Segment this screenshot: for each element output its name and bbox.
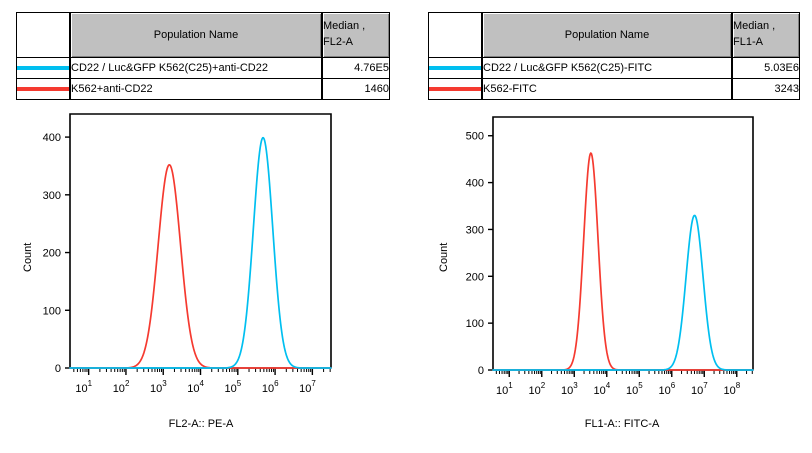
svg-text:6: 6 — [671, 381, 676, 390]
svg-text:10: 10 — [187, 383, 199, 395]
svg-text:300: 300 — [43, 190, 61, 202]
median-value-cell: 5.03E6 — [732, 58, 800, 79]
svg-text:10: 10 — [626, 385, 638, 397]
legend-header-median-line2-left: FL2-A — [323, 35, 389, 51]
table-row[interactable]: CD22 / Luc&GFP K562(C25)+anti-CD22 4.76E… — [17, 58, 390, 79]
legend-header-blank-right — [429, 13, 483, 58]
x-axis-title-right: FL1-A:: FITC-A — [491, 418, 753, 430]
y-axis-title-left: Count — [22, 243, 34, 272]
svg-text:3: 3 — [573, 381, 578, 390]
legend-table-left: Population Name Median , FL2-A CD22 / Lu… — [16, 12, 390, 100]
x-axis-title-left: FL2-A:: PE-A — [70, 418, 332, 430]
svg-text:400: 400 — [466, 178, 484, 190]
svg-text:1: 1 — [508, 381, 513, 390]
histogram-plot-left: 0100200300400101102103104105106107 — [0, 100, 406, 400]
svg-text:300: 300 — [466, 224, 484, 236]
legend-color-swatch-cyan — [429, 66, 481, 70]
legend-color-swatch-red — [429, 87, 481, 91]
svg-text:10: 10 — [150, 383, 162, 395]
svg-text:400: 400 — [43, 132, 61, 144]
legend-header-population-left: Population Name — [70, 13, 322, 58]
legend-table-right: Population Name Median , FL1-A CD22 / Lu… — [428, 12, 800, 100]
svg-text:500: 500 — [466, 131, 484, 143]
svg-text:7: 7 — [311, 379, 316, 388]
table-row[interactable]: K562+anti-CD22 1460 — [17, 79, 390, 100]
legend-swatch-cell — [17, 58, 71, 79]
svg-text:200: 200 — [43, 248, 61, 260]
svg-text:10: 10 — [75, 383, 87, 395]
svg-text:10: 10 — [594, 385, 606, 397]
legend-header-blank-left — [17, 13, 71, 58]
svg-text:5: 5 — [237, 379, 242, 388]
panel-left: Population Name Median , FL2-A CD22 / Lu… — [0, 0, 406, 453]
svg-text:100: 100 — [466, 318, 484, 330]
median-value-cell: 4.76E5 — [322, 58, 390, 79]
table-row[interactable]: K562-FITC 3243 — [429, 79, 800, 100]
legend-header-median-right: Median , FL1-A — [732, 13, 800, 58]
svg-text:2: 2 — [541, 381, 546, 390]
population-name-cell: CD22 / Luc&GFP K562(C25)-FITC — [482, 58, 732, 79]
table-row[interactable]: CD22 / Luc&GFP K562(C25)-FITC 5.03E6 — [429, 58, 800, 79]
panel-right: Population Name Median , FL1-A CD22 / Lu… — [406, 0, 812, 453]
legend-header-row-right: Population Name Median , FL1-A — [429, 13, 800, 58]
legend-header-row-left: Population Name Median , FL2-A — [17, 13, 390, 58]
svg-text:10: 10 — [724, 385, 736, 397]
svg-text:10: 10 — [225, 383, 237, 395]
population-name-cell: K562+anti-CD22 — [70, 79, 322, 100]
svg-text:4: 4 — [200, 379, 205, 388]
svg-text:10: 10 — [299, 383, 311, 395]
y-axis-title-right: Count — [438, 243, 450, 272]
legend-swatch-cell — [429, 79, 483, 100]
svg-text:10: 10 — [262, 383, 274, 395]
svg-text:10: 10 — [496, 385, 508, 397]
svg-text:10: 10 — [113, 383, 125, 395]
svg-text:6: 6 — [274, 379, 279, 388]
legend-swatch-cell — [17, 79, 71, 100]
legend-header-median-left: Median , FL2-A — [322, 13, 390, 58]
svg-text:10: 10 — [561, 385, 573, 397]
legend-header-population-right: Population Name — [482, 13, 732, 58]
population-name-cell: CD22 / Luc&GFP K562(C25)+anti-CD22 — [70, 58, 322, 79]
histogram-svg-right: 0100200300400500101102103104105106107108 — [406, 100, 812, 400]
histogram-svg-left: 0100200300400101102103104105106107 — [0, 100, 406, 400]
svg-text:2: 2 — [125, 379, 130, 388]
svg-text:100: 100 — [43, 305, 61, 317]
svg-text:8: 8 — [736, 381, 741, 390]
population-name-cell: K562-FITC — [482, 79, 732, 100]
svg-text:10: 10 — [691, 385, 703, 397]
legend-header-median-line2-right: FL1-A — [733, 35, 799, 51]
legend-color-swatch-cyan — [17, 66, 69, 70]
svg-text:200: 200 — [466, 271, 484, 283]
svg-text:3: 3 — [162, 379, 167, 388]
svg-text:0: 0 — [55, 363, 61, 375]
legend-swatch-cell — [429, 58, 483, 79]
median-value-cell: 1460 — [322, 79, 390, 100]
svg-text:4: 4 — [606, 381, 611, 390]
svg-text:10: 10 — [659, 385, 671, 397]
legend-color-swatch-red — [17, 87, 69, 91]
legend-header-median-line1-left: Median , — [323, 20, 365, 32]
svg-text:10: 10 — [529, 385, 541, 397]
legend-header-median-line1-right: Median , — [733, 20, 775, 32]
histogram-plot-right: 0100200300400500101102103104105106107108 — [406, 100, 812, 400]
svg-text:0: 0 — [478, 365, 484, 377]
svg-text:1: 1 — [88, 379, 93, 388]
svg-text:7: 7 — [703, 381, 708, 390]
median-value-cell: 3243 — [732, 79, 800, 100]
svg-text:5: 5 — [638, 381, 643, 390]
